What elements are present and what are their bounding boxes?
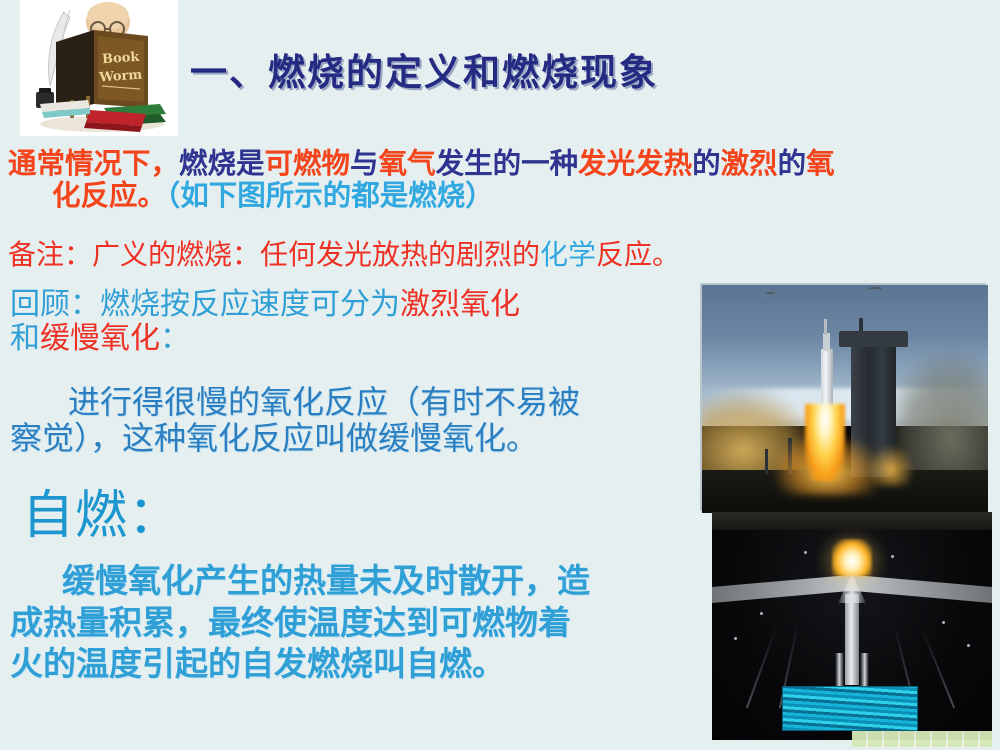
review-paragraph: 回顾：燃烧按反应速度可分为激烈氧化和缓慢氧化： (10, 288, 700, 355)
svg-text:Book: Book (102, 50, 141, 68)
definition-seg-5: 氧气 (379, 147, 436, 180)
spontaneous-line-2: 成热量积累，最终使温度达到可燃物着 (10, 602, 710, 644)
slow-oxidation-line-2: 察觉），这种氧化反应叫做缓慢氧化。 (10, 421, 710, 457)
bookworm-clipart-box: Book Worm (20, 0, 178, 136)
note-seg-1: 备注：广义的燃烧：任何发光放热的剧烈的 (8, 238, 540, 271)
rocket-tip (823, 333, 830, 351)
definition-seg-13: （如下图所示的都是燃烧） (166, 179, 494, 212)
definition-seg-7: 发光发热 (578, 147, 692, 180)
stadium-led-screen (782, 686, 918, 731)
spontaneous-line-1: 缓慢氧化产生的热量未及时散开，造 (10, 560, 710, 602)
note-seg-2: 化学 (540, 238, 596, 271)
rocket-launch-photo (702, 285, 988, 513)
definition-seg-3: 可燃物 (265, 147, 351, 180)
svg-text:Worm: Worm (98, 68, 143, 86)
slide-canvas: Book Worm 一、燃烧的定义和燃烧现象 通常情况下，燃烧是可燃物与氧气发生… (0, 0, 1000, 750)
definition-seg-4: 与 (350, 147, 379, 180)
spontaneous-combustion-paragraph: 缓慢氧化产生的热量未及时散开，造 成热量积累，最终使温度达到可燃物着 火的温度引… (10, 560, 710, 685)
spontaneous-combustion-heading: 自燃： (22, 487, 181, 545)
definition-seg-1: 通常情况下， (8, 147, 179, 180)
review-seg-5: ： (160, 321, 190, 356)
definition-seg-10: 的 (778, 147, 807, 180)
definition-seg-2: 燃烧是 (179, 147, 265, 180)
bird-icon (765, 292, 775, 297)
olympic-cauldron-photo (712, 512, 992, 740)
page-title: 一、燃烧的定义和燃烧现象 (190, 42, 658, 96)
slow-oxidation-line-1: 进行得很慢的氧化反应（有时不易被 (10, 385, 710, 421)
bottom-green-strip (852, 731, 992, 747)
review-seg-3: 和 (10, 321, 40, 356)
definition-seg-6: 发生的一种 (436, 147, 579, 180)
review-seg-4: 缓慢氧化 (40, 321, 160, 356)
slow-oxidation-paragraph: 进行得很慢的氧化反应（有时不易被 察觉），这种氧化反应叫做缓慢氧化。 (10, 385, 710, 457)
note-seg-3: 反应。 (596, 238, 680, 271)
definition-seg-8: 的 (692, 147, 721, 180)
cauldron-base-legs (832, 653, 871, 689)
definition-seg-9: 激烈 (721, 147, 778, 180)
service-tower-small-2 (765, 449, 768, 474)
definition-seg-12: 化反应。 (52, 179, 166, 212)
gantry-top-platform (839, 331, 908, 347)
rocket-exhaust-flame (805, 404, 845, 482)
rocket-nose-spike (824, 319, 827, 335)
review-seg-1: 回顾：燃烧按反应速度可分为 (10, 287, 400, 322)
secondary-flame (868, 445, 914, 486)
cauldron-flame (832, 539, 871, 575)
definition-paragraph: 通常情况下，燃烧是可燃物与氧气发生的一种发光发热的激烈的氧化反应。（如下图所示的… (8, 148, 992, 212)
spontaneous-line-3: 火的温度引起的自发燃烧叫自燃。 (10, 643, 710, 685)
review-seg-2: 激烈氧化 (400, 287, 520, 322)
note-paragraph: 备注：广义的燃烧：任何发光放热的剧烈的化学反应。 (8, 239, 992, 270)
bookworm-icon: Book Worm (20, 0, 178, 136)
definition-seg-11: 氧 (806, 147, 835, 180)
